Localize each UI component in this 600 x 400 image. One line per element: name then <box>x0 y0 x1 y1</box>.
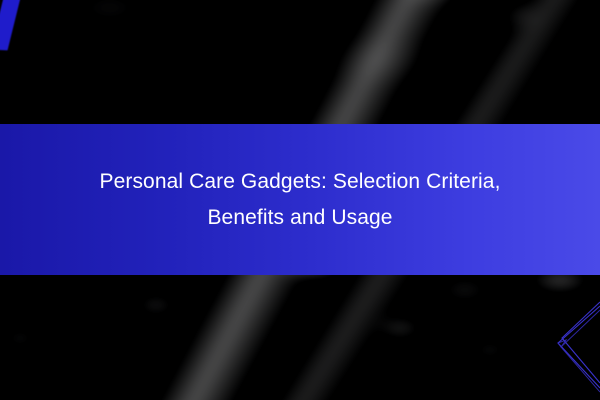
title-banner: Personal Care Gadgets: Selection Criteri… <box>0 124 600 275</box>
hero-card: Personal Care Gadgets: Selection Criteri… <box>0 0 600 400</box>
page-title-line-2: Benefits and Usage <box>207 206 392 229</box>
page-title: Personal Care Gadgets: Selection Criteri… <box>65 164 535 236</box>
blue-chevron-lines-icon <box>520 280 600 400</box>
page-title-line-1: Personal Care Gadgets: Selection Criteri… <box>99 170 500 193</box>
